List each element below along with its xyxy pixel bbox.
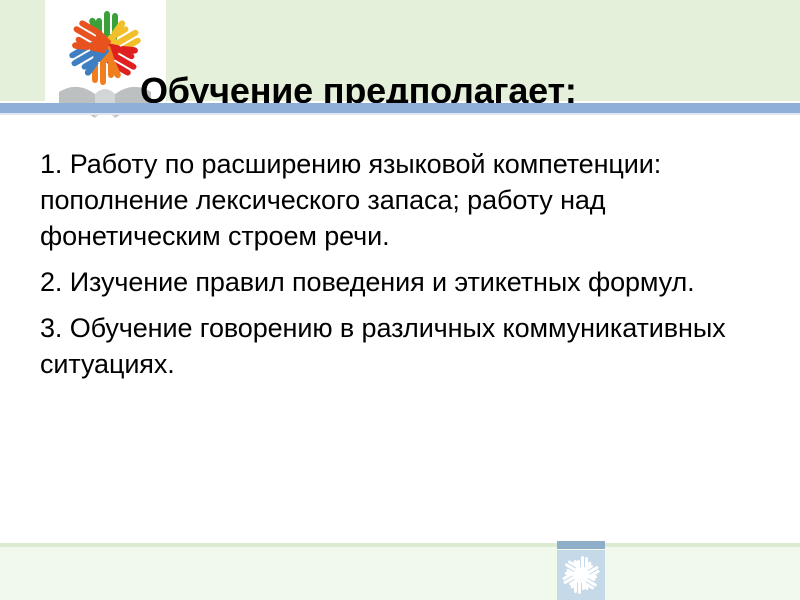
ornament-cap-bar xyxy=(557,541,605,549)
hands-circle-ornament-icon xyxy=(559,553,603,597)
header-divider-rule xyxy=(0,103,800,113)
footer-ornament xyxy=(557,541,605,600)
list-item: 1. Работу по расширению языковой компете… xyxy=(40,146,760,254)
list-item: 2. Изучение правил поведения и этикетных… xyxy=(40,264,760,300)
footer-band xyxy=(0,547,800,600)
presentation-slide: Обучение предполагает: 1. Работу по расш… xyxy=(0,0,800,600)
slide-body: 1. Работу по расширению языковой компете… xyxy=(40,146,760,382)
header-divider-shadow xyxy=(0,113,800,115)
list-item: 3. Обучение говорению в различных коммун… xyxy=(40,310,760,382)
